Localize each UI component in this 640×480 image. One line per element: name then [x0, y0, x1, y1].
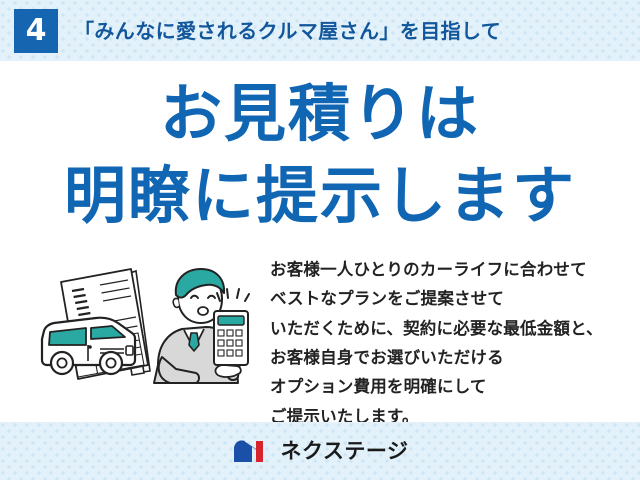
step-number-badge: 4: [14, 9, 58, 53]
paragraph-line: いただくために、契約に必要な最低金額と、: [270, 314, 635, 343]
brand-lockup: ネクステージ: [232, 438, 409, 465]
footer-band: ネクステージ: [0, 422, 640, 480]
paragraph-line: お客様一人ひとりのカーライフに合わせて: [270, 255, 635, 284]
brand-name: ネクステージ: [281, 441, 409, 462]
nextage-n-logo-icon: [232, 438, 272, 465]
paragraph-line: ベストなプランをご提案させて: [270, 284, 635, 313]
main-content: お見積りは 明瞭に提示します お客様一人ひとりのカーライフに合わせて ベストなプ…: [0, 61, 640, 422]
promo-panel: 4 「みんなに愛されるクルマ屋さん」を目指して お見積りは 明瞭に提示します お…: [0, 0, 640, 480]
lead-paragraph: お客様一人ひとりのカーライフに合わせて ベストなプランをご提案させて いただくた…: [270, 255, 635, 431]
salesman-estimate-van-illustration: [28, 253, 268, 413]
header-title: 「みんなに愛されるクルマ屋さん」を目指して: [74, 21, 501, 41]
calculator-icon: [214, 311, 248, 365]
headline-line-1: お見積りは: [0, 83, 640, 145]
paragraph-line: お客様自身でお選びいただける: [270, 343, 635, 372]
header-band: 4 「みんなに愛されるクルマ屋さん」を目指して: [0, 0, 640, 61]
paragraph-line: オプション費用を明確にして: [270, 372, 635, 401]
van-icon: [42, 318, 135, 374]
headline-line-2: 明瞭に提示します: [0, 165, 640, 227]
